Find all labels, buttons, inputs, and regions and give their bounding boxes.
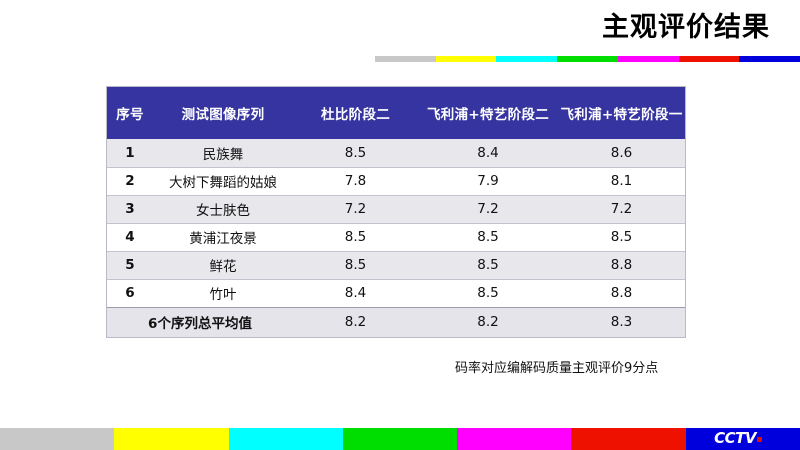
color-segment-blue xyxy=(739,56,800,62)
results-table: 序号 测试图像序列 杜比阶段二 飞利浦+特艺阶段二 飞利浦+特艺阶段一 1 民族… xyxy=(107,87,685,337)
table-row: 4 黄浦江夜景 8.5 8.5 8.5 xyxy=(107,223,685,251)
cell-value-philips-stage1: 8.1 xyxy=(558,167,685,195)
cell-value-philips-stage2: 8.5 xyxy=(418,279,558,307)
column-header-philips-technicolor-stage2: 飞利浦+特艺阶段二 xyxy=(418,87,558,139)
table-header-row: 序号 测试图像序列 杜比阶段二 飞利浦+特艺阶段二 飞利浦+特艺阶段一 xyxy=(107,87,685,139)
cell-value-philips-stage1: 7.2 xyxy=(558,195,685,223)
cell-total-philips-stage1: 8.3 xyxy=(558,307,685,337)
cell-index: 4 xyxy=(107,223,153,251)
cell-value-philips-stage2: 7.9 xyxy=(418,167,558,195)
cell-value-dolby: 7.2 xyxy=(293,195,418,223)
table-row: 1 民族舞 8.5 8.4 8.6 xyxy=(107,139,685,167)
color-segment-gray xyxy=(0,428,114,450)
column-header-dolby-stage2: 杜比阶段二 xyxy=(293,87,418,139)
color-segment-yellow xyxy=(436,56,497,62)
cell-index: 3 xyxy=(107,195,153,223)
table-row: 2 大树下舞蹈的姑娘 7.8 7.9 8.1 xyxy=(107,167,685,195)
column-header-sequence: 测试图像序列 xyxy=(153,87,293,139)
cell-sequence-name: 女士肤色 xyxy=(153,195,293,223)
table-row: 6 竹叶 8.4 8.5 8.8 xyxy=(107,279,685,307)
cell-index: 6 xyxy=(107,279,153,307)
column-header-philips-technicolor-stage1: 飞利浦+特艺阶段一 xyxy=(558,87,685,139)
cell-total-philips-stage2: 8.2 xyxy=(418,307,558,337)
cell-sequence-name: 黄浦江夜景 xyxy=(153,223,293,251)
color-segment-magenta xyxy=(618,56,679,62)
page-title: 主观评价结果 xyxy=(602,10,770,46)
column-header-index: 序号 xyxy=(107,87,153,139)
color-segment-cyan xyxy=(229,428,343,450)
cctv-logo: CCTV xyxy=(714,429,762,448)
cell-value-dolby: 7.8 xyxy=(293,167,418,195)
page-number: 19 xyxy=(777,415,792,429)
bottom-color-bar xyxy=(0,428,800,450)
table-header: 序号 测试图像序列 杜比阶段二 飞利浦+特艺阶段二 飞利浦+特艺阶段一 xyxy=(107,87,685,139)
cell-value-dolby: 8.5 xyxy=(293,139,418,167)
table-row: 5 鲜花 8.5 8.5 8.8 xyxy=(107,251,685,279)
cell-total-label: 6个序列总平均值 xyxy=(107,307,293,337)
cell-total-dolby: 8.2 xyxy=(293,307,418,337)
cell-value-philips-stage1: 8.6 xyxy=(558,139,685,167)
color-segment-yellow xyxy=(114,428,228,450)
cell-value-philips-stage1: 8.8 xyxy=(558,279,685,307)
cctv-logo-text: CCTV xyxy=(714,429,756,447)
color-segment-gray xyxy=(375,56,436,62)
cell-value-philips-stage2: 7.2 xyxy=(418,195,558,223)
cell-sequence-name: 大树下舞蹈的姑娘 xyxy=(153,167,293,195)
cell-value-philips-stage2: 8.4 xyxy=(418,139,558,167)
table-body: 1 民族舞 8.5 8.4 8.6 2 大树下舞蹈的姑娘 7.8 7.9 8.1… xyxy=(107,139,685,337)
cell-sequence-name: 鲜花 xyxy=(153,251,293,279)
color-segment-cyan xyxy=(496,56,557,62)
cell-index: 2 xyxy=(107,167,153,195)
cell-index: 1 xyxy=(107,139,153,167)
color-segment-green xyxy=(557,56,618,62)
table-caption: 码率对应编解码质量主观评价9分点 xyxy=(455,357,658,376)
results-table-container: 序号 测试图像序列 杜比阶段二 飞利浦+特艺阶段二 飞利浦+特艺阶段一 1 民族… xyxy=(107,87,685,337)
cell-sequence-name: 竹叶 xyxy=(153,279,293,307)
cell-value-philips-stage1: 8.8 xyxy=(558,251,685,279)
cell-value-dolby: 8.5 xyxy=(293,223,418,251)
cell-sequence-name: 民族舞 xyxy=(153,139,293,167)
table-total-row: 6个序列总平均值 8.2 8.2 8.3 xyxy=(107,307,685,337)
cell-value-philips-stage2: 8.5 xyxy=(418,223,558,251)
cell-value-dolby: 8.4 xyxy=(293,279,418,307)
cell-value-philips-stage2: 8.5 xyxy=(418,251,558,279)
cell-value-dolby: 8.5 xyxy=(293,251,418,279)
color-segment-red xyxy=(679,56,740,62)
table-row: 3 女士肤色 7.2 7.2 7.2 xyxy=(107,195,685,223)
cell-index: 5 xyxy=(107,251,153,279)
cell-value-philips-stage1: 8.5 xyxy=(558,223,685,251)
cctv-dot-icon xyxy=(757,437,762,442)
color-segment-green xyxy=(343,428,457,450)
color-segment-magenta xyxy=(457,428,571,450)
top-color-bar xyxy=(375,56,800,62)
color-segment-red xyxy=(571,428,685,450)
